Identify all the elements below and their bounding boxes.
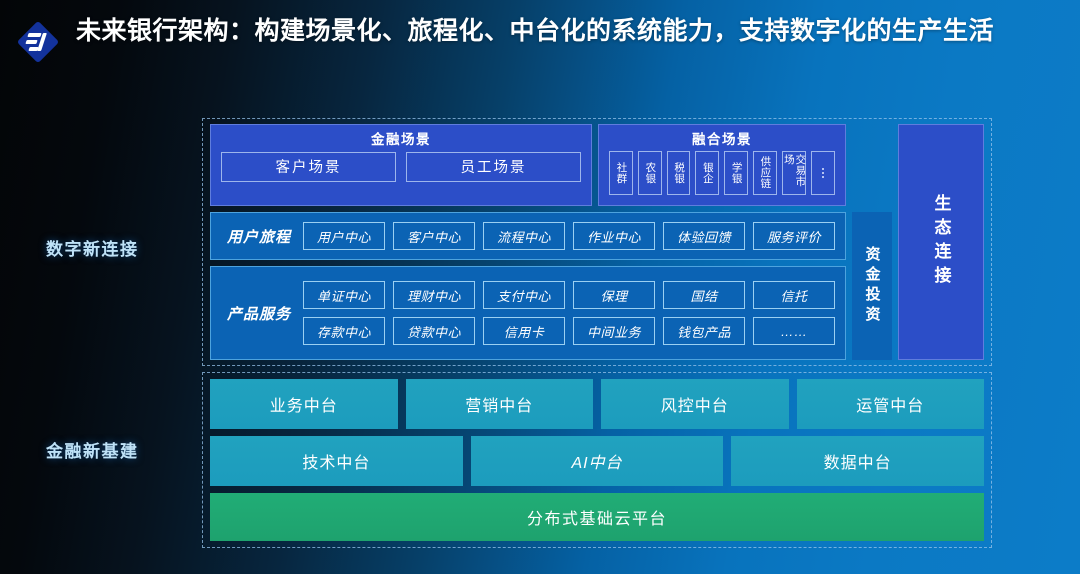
product-cell-intermediary-business[interactable]: 中间业务 — [573, 317, 655, 345]
page-title: 未来银行架构：构建场景化、旅程化、中台化的系统能力，支持数字化的生产生活 — [76, 14, 994, 50]
fusion-chip-agri-bank[interactable]: 农银 — [638, 151, 662, 195]
bottom-section-content: 业务中台 营销中台 风控中台 运管中台 技术中台 AI中台 数据中台 分布式基础… — [210, 379, 984, 541]
distributed-cloud-platform[interactable]: 分布式基础云平台 — [210, 493, 984, 541]
product-service-row: 产品服务 单证中心 理财中心 支付中心 保理 国结 信托 存款中心 贷款中心 信… — [210, 266, 846, 360]
journey-cell-experience-feedback[interactable]: 体验回馈 — [663, 222, 745, 250]
fusion-chip-bank-enterprise[interactable]: 银企 — [695, 151, 719, 195]
fusion-chip-trading-market[interactable]: 交易市场 — [782, 151, 807, 195]
midplatform-technology[interactable]: 技术中台 — [210, 436, 463, 486]
product-cell-document-center[interactable]: 单证中心 — [303, 281, 385, 309]
product-cell-trust[interactable]: 信托 — [753, 281, 835, 309]
fusion-scenario-panel[interactable]: 融合场景 社群 农银 税银 银企 学银 供应链 交易市场 — [598, 124, 846, 206]
midplatform-business[interactable]: 业务中台 — [210, 379, 398, 429]
user-journey-cells: 用户中心 客户中心 流程中心 作业中心 体验回馈 服务评价 — [303, 222, 835, 250]
capital-investment-column: 资金投资 — [852, 124, 892, 360]
fusion-chip-ellipsis-icon[interactable] — [811, 151, 835, 195]
product-line-1: 单证中心 理财中心 支付中心 保理 国结 信托 — [303, 281, 835, 309]
capital-investment-strip[interactable]: 资金投资 — [852, 212, 892, 360]
scenario-chip-employee[interactable]: 员工场景 — [406, 152, 581, 182]
product-cell-wealth-center[interactable]: 理财中心 — [393, 281, 475, 309]
top-main-column: 金融场景 客户场景 员工场景 融合场景 社群 农银 税银 银企 学银 供应链 — [210, 124, 846, 360]
product-cell-loan-center[interactable]: 贷款中心 — [393, 317, 475, 345]
fusion-chip-tax-bank[interactable]: 税银 — [667, 151, 691, 195]
product-cell-international-settlement[interactable]: 国结 — [663, 281, 745, 309]
fusion-chip-school-bank[interactable]: 学银 — [724, 151, 748, 195]
product-service-grid: 单证中心 理财中心 支付中心 保理 国结 信托 存款中心 贷款中心 信用卡 中间… — [303, 281, 835, 345]
fusion-chip-community[interactable]: 社群 — [609, 151, 633, 195]
midplatform-ai[interactable]: AI中台 — [471, 436, 724, 486]
user-journey-row: 用户旅程 用户中心 客户中心 流程中心 作业中心 体验回馈 服务评价 — [210, 212, 846, 260]
journey-cell-operation-center[interactable]: 作业中心 — [573, 222, 655, 250]
rail-label-digital-connection: 数字新连接 — [46, 235, 139, 260]
product-cell-payment-center[interactable]: 支付中心 — [483, 281, 565, 309]
fusion-scenario-chips: 社群 农银 税银 银企 学银 供应链 交易市场 — [609, 151, 835, 195]
product-line-2: 存款中心 贷款中心 信用卡 中间业务 钱包产品 …… — [303, 317, 835, 345]
midplatform-operations[interactable]: 运管中台 — [797, 379, 985, 429]
product-cell-wallet-product[interactable]: 钱包产品 — [663, 317, 745, 345]
rail-label-financial-infrastructure: 金融新基建 — [46, 437, 139, 462]
diamond-logo-icon — [16, 20, 62, 66]
fusion-scenario-title: 融合场景 — [692, 131, 752, 147]
midplatform-row-2: 技术中台 AI中台 数据中台 — [210, 436, 984, 486]
slide-canvas: 未来银行架构：构建场景化、旅程化、中台化的系统能力，支持数字化的生产生活 数字新… — [0, 0, 1080, 574]
financial-scenario-chips: 客户场景 员工场景 — [221, 152, 581, 182]
midplatform-marketing[interactable]: 营销中台 — [406, 379, 594, 429]
scenario-chip-customer[interactable]: 客户场景 — [221, 152, 396, 182]
midplatform-row-1: 业务中台 营销中台 风控中台 运管中台 — [210, 379, 984, 429]
financial-scenario-panel[interactable]: 金融场景 客户场景 员工场景 — [210, 124, 592, 206]
journey-cell-process-center[interactable]: 流程中心 — [483, 222, 565, 250]
journey-cell-customer-center[interactable]: 客户中心 — [393, 222, 475, 250]
midplatform-data[interactable]: 数据中台 — [731, 436, 984, 486]
fusion-chip-supply-chain[interactable]: 供应链 — [753, 151, 777, 195]
product-cell-deposit-center[interactable]: 存款中心 — [303, 317, 385, 345]
logo-bars-shape — [26, 32, 52, 54]
cloud-platform-row: 分布式基础云平台 — [210, 493, 984, 541]
product-cell-more[interactable]: …… — [753, 317, 835, 345]
scenario-row: 金融场景 客户场景 员工场景 融合场景 社群 农银 税银 银企 学银 供应链 — [210, 124, 846, 206]
top-section-content: 金融场景 客户场景 员工场景 融合场景 社群 农银 税银 银企 学银 供应链 — [210, 124, 984, 360]
ecosystem-connection-strip[interactable]: 生态连接 — [898, 124, 984, 360]
midplatform-risk-control[interactable]: 风控中台 — [601, 379, 789, 429]
journey-cell-service-rating[interactable]: 服务评价 — [753, 222, 835, 250]
financial-scenario-title: 金融场景 — [371, 131, 431, 147]
product-cell-factoring[interactable]: 保理 — [573, 281, 655, 309]
product-cell-credit-card[interactable]: 信用卡 — [483, 317, 565, 345]
slide-header: 未来银行架构：构建场景化、旅程化、中台化的系统能力，支持数字化的生产生活 — [0, 0, 1080, 100]
journey-cell-user-center[interactable]: 用户中心 — [303, 222, 385, 250]
product-service-label: 产品服务 — [221, 303, 303, 324]
user-journey-label: 用户旅程 — [221, 226, 303, 247]
